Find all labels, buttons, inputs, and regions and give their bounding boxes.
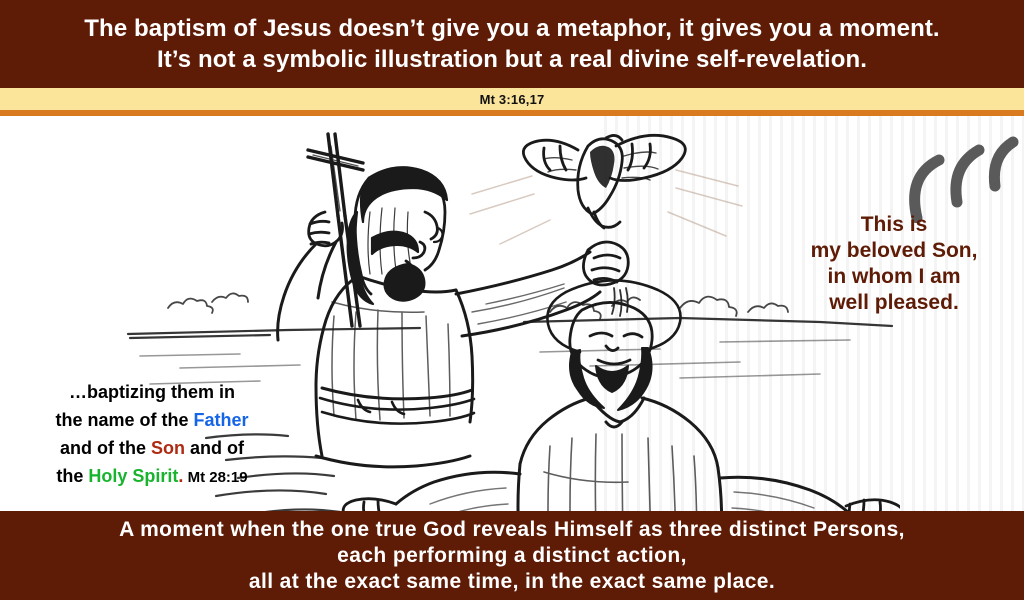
john-beard (385, 264, 425, 301)
word-father: Father (194, 410, 249, 430)
scripture-reference: Mt 3:16,17 (480, 92, 545, 107)
sound-wave-arc-outer (915, 160, 939, 218)
dove-body-shading (590, 146, 615, 188)
commission-line-1-text: …baptizing them in (69, 382, 235, 402)
commission-line-2: the name of the Father (18, 406, 286, 434)
jesus-right-hand (838, 500, 900, 511)
footer-line-2: each performing a distinct action, (337, 543, 687, 569)
header-line-1: The baptism of Jesus doesn’t give you a … (84, 13, 939, 44)
commission-line-4-prefix: the (56, 466, 88, 486)
voice-line-2: my beloved Son, (782, 238, 1006, 264)
jesus-left-hand (343, 499, 402, 511)
commission-reference: Mt 28:19 (183, 469, 247, 486)
commission-line-3-suffix: and of (185, 438, 244, 458)
voice-line-4: well pleased. (782, 290, 1006, 316)
voice-line-3: in whom I am (782, 264, 1006, 290)
scripture-reference-band: Mt 3:16,17 (0, 88, 1024, 110)
jesus-left-arm (396, 472, 524, 511)
john-pouring-hand (583, 242, 628, 285)
john-belt (320, 398, 474, 424)
word-holy-spirit: Holy Spirit (88, 466, 178, 486)
sound-wave-icon (895, 118, 1024, 223)
jesus-robe-folds (544, 434, 697, 511)
commission-line-3: and of the Son and of (18, 434, 286, 462)
header-line-2: It’s not a symbolic illustration but a r… (157, 44, 867, 75)
john-raised-arm (278, 242, 336, 340)
clouds (168, 293, 788, 319)
jesus-right-arm (716, 477, 850, 511)
footer-line-3: all at the exact same time, in the exact… (249, 569, 775, 595)
great-commission-caption: …baptizing them in the name of the Fathe… (18, 378, 286, 492)
descending-dove (523, 135, 685, 228)
header-banner: The baptism of Jesus doesn’t give you a … (0, 0, 1024, 88)
jesus-right-sleeve-shading (730, 492, 814, 511)
jesus-head (570, 302, 652, 377)
slide-root: The baptism of Jesus doesn’t give you a … (0, 0, 1024, 600)
commission-line-4: the Holy Spirit. Mt 28:19 (18, 462, 286, 492)
sound-wave-arc-middle (956, 150, 979, 202)
voice-line-1: This is (782, 212, 1006, 238)
commission-line-1: …baptizing them in (18, 378, 286, 406)
sound-wave-arc-inner (994, 142, 1013, 186)
commission-line-3-prefix: and of the (60, 438, 151, 458)
word-son: Son (151, 438, 185, 458)
commission-line-2-prefix: the name of the (55, 410, 193, 430)
jesus-left-sleeve-shading (430, 488, 510, 511)
footer-banner: A moment when the one true God reveals H… (0, 511, 1024, 600)
footer-line-1: A moment when the one true God reveals H… (119, 517, 905, 543)
john-the-baptist (278, 134, 629, 467)
voice-from-heaven-text: This is my beloved Son, in whom I am wel… (782, 212, 1006, 316)
